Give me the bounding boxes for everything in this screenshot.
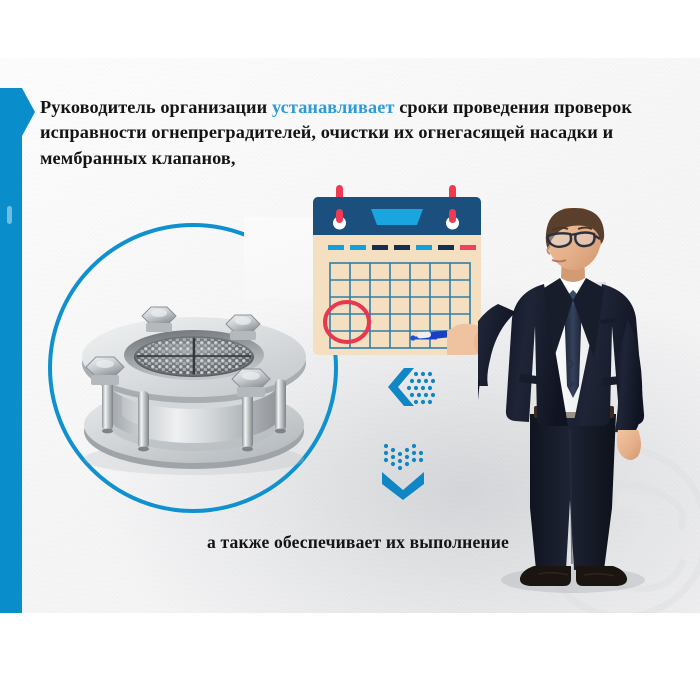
heading-highlight-word: устанавливает [272,97,395,117]
calendar-tab [371,209,423,225]
rail-notch-mark [7,206,12,224]
heading-line1-after: сроки проведения [395,97,550,117]
marker-tue [350,245,366,250]
calendar-weekday-markers [328,245,476,250]
slide-canvas: Руководитель организации устанавливает с… [0,58,700,613]
device-callout [48,223,338,513]
jacket-button-bottom [568,381,574,387]
flame-arrester-illustration [60,263,328,475]
marker-sat [438,245,454,250]
footer-caption: а также обеспечивает их выполнение [0,532,700,553]
chevron-left-dotted-icon [378,366,440,408]
hand-right [617,430,641,460]
marker-thu [394,245,410,250]
heading-line1-before: Руководитель организации [40,97,272,117]
marker-fri [416,245,432,250]
calendar-illustration [305,185,490,375]
page-title: Руководитель организации устанавливает с… [40,95,640,171]
jacket-button-top [567,361,574,368]
marker-mon [328,245,344,250]
marker-sun [460,245,476,250]
chevron-down-dotted-icon [378,440,428,502]
rail-arrow-tip-icon [22,88,35,136]
marker-wed [372,245,388,250]
